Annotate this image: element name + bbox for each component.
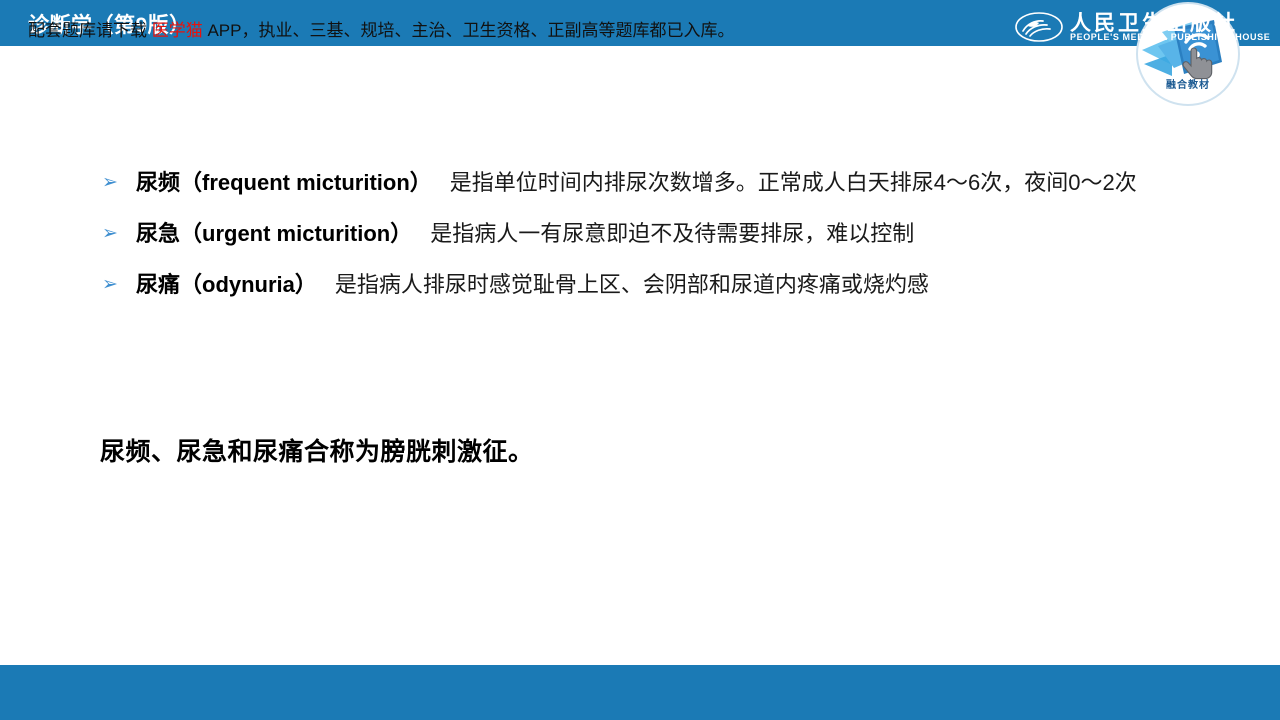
term-description: 是指病人排尿时感觉耻骨上区、会阴部和尿道内疼痛或烧灼感 — [335, 272, 929, 297]
list-item: ➢ 尿频（frequent micturition）是指单位时间内排尿次数增多。… — [0, 160, 1280, 205]
publisher-logo: 人民卫生出版社 PEOPLE'S MEDICAL PUBLISHING HOUS… — [1014, 8, 1264, 48]
footer-bar — [0, 665, 1280, 720]
term-label: 尿急（urgent micturition） — [136, 221, 412, 246]
slide-content: ➢ 尿频（frequent micturition）是指单位时间内排尿次数增多。… — [0, 160, 1280, 313]
slide-root: 诊断学（第9版） — [0, 0, 1280, 720]
badge-label: 融合教材 — [1136, 76, 1240, 91]
term-description: 是指病人一有尿意即迫不及待需要排尿，难以控制 — [430, 221, 914, 246]
bullet-arrow-icon: ➢ — [102, 262, 128, 307]
publisher-emblem-icon — [1014, 10, 1064, 44]
summary-statement: 尿频、尿急和尿痛合称为膀胱刺激征。 — [100, 432, 534, 468]
footer-text-after: APP，执业、三基、规培、主治、卫生资格、正副高等题库都已入库。 — [203, 21, 735, 40]
footer-promo-text: 配套题库请下载 医学猫 APP，执业、三基、规培、主治、卫生资格、正副高等题库都… — [28, 16, 734, 41]
footer-app-name: 医学猫 — [152, 21, 203, 40]
bullet-arrow-icon: ➢ — [102, 211, 128, 256]
term-description: 是指单位时间内排尿次数增多。正常成人白天排尿4～6次，夜间0～2次 — [450, 170, 1137, 195]
term-label: 尿痛（odynuria） — [136, 272, 317, 297]
footer-text-before: 配套题库请下载 — [28, 21, 152, 40]
bullet-arrow-icon: ➢ — [102, 160, 128, 205]
term-label: 尿频（frequent micturition） — [136, 170, 432, 195]
list-item: ➢ 尿痛（odynuria）是指病人排尿时感觉耻骨上区、会阴部和尿道内疼痛或烧灼… — [0, 262, 1280, 307]
publisher-name-english: PEOPLE'S MEDICAL PUBLISHING HOUSE — [1070, 32, 1270, 42]
definition-list: ➢ 尿频（frequent micturition）是指单位时间内排尿次数增多。… — [0, 160, 1280, 307]
list-item: ➢ 尿急（urgent micturition）是指病人一有尿意即迫不及待需要排… — [0, 211, 1280, 256]
